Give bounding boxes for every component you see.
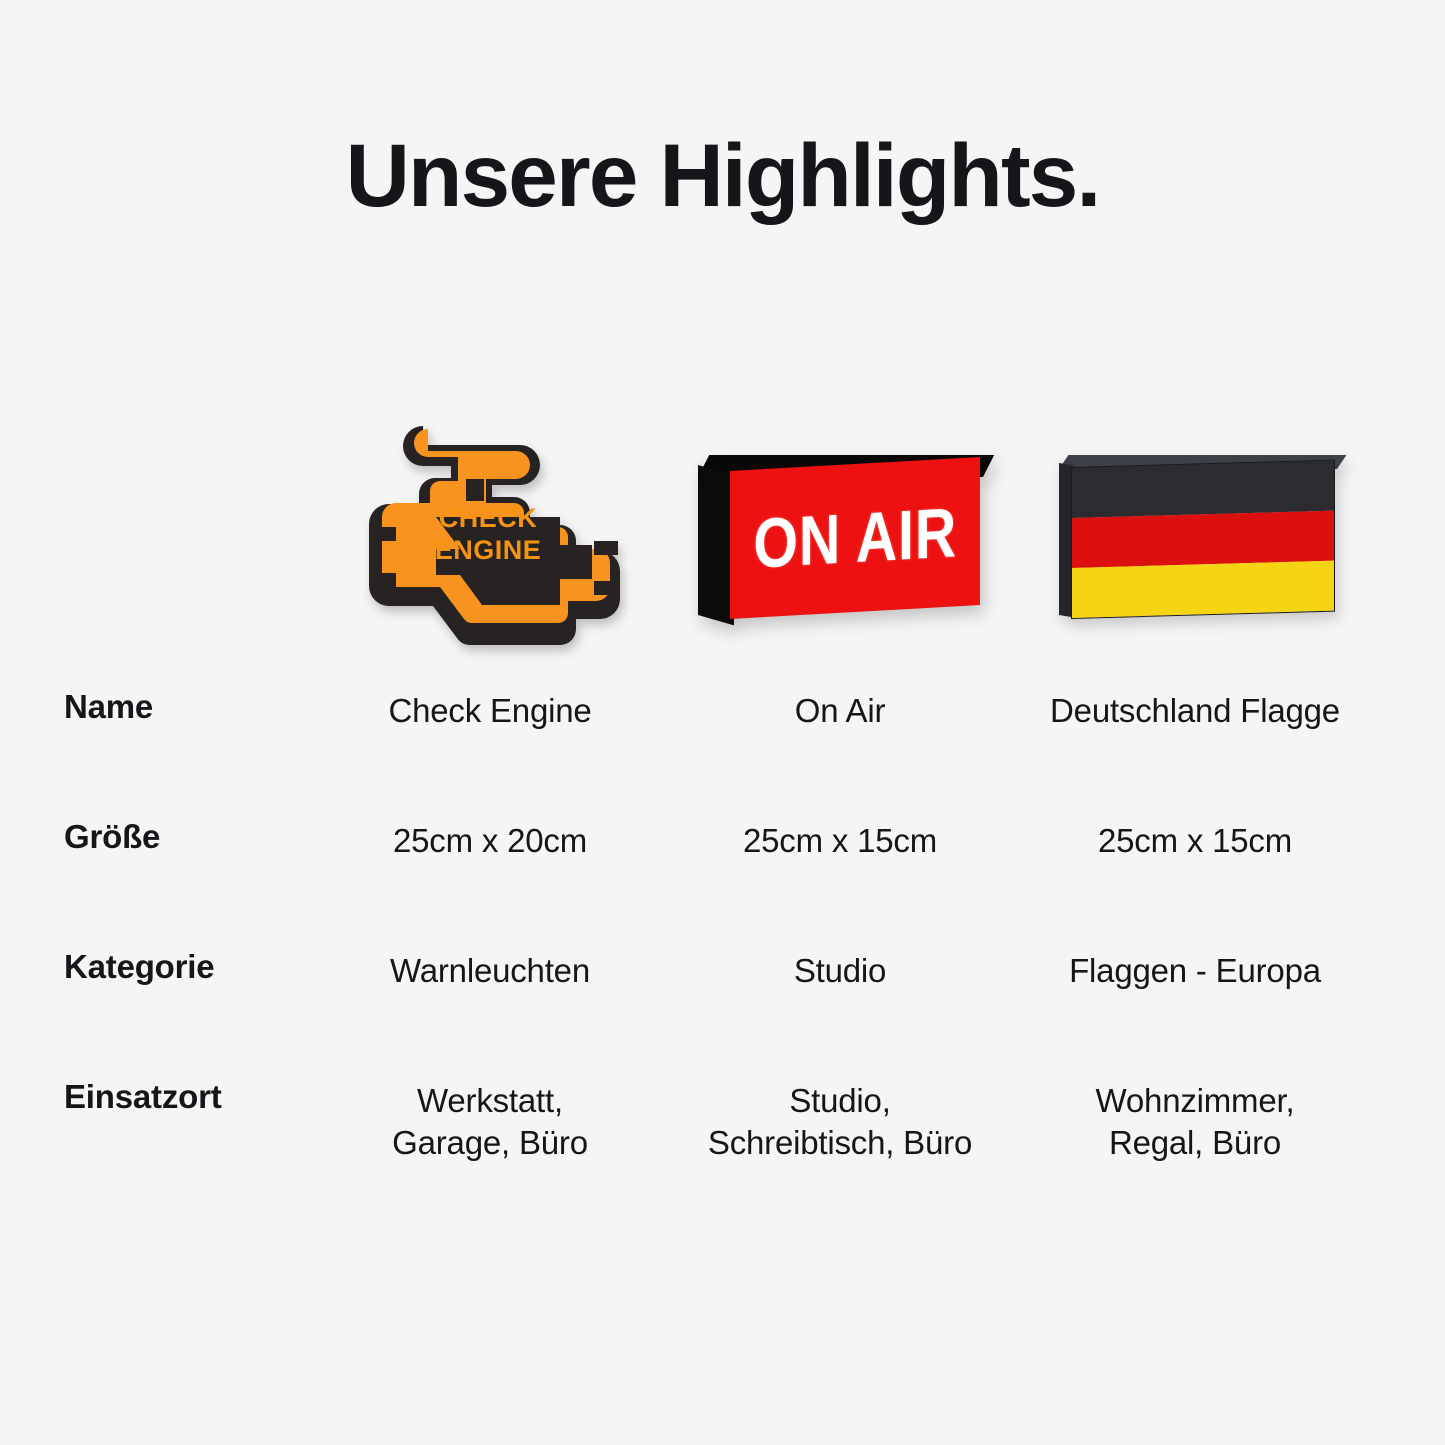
cell-kategorie-flagge: Flaggen - Europa xyxy=(1020,950,1370,992)
product-image-strip: CHECK ENGINE ON AIR xyxy=(0,400,1445,670)
table-row: Kategorie Warnleuchten Studio Flaggen - … xyxy=(0,950,1445,1080)
cell-groesse-check-engine: 25cm x 20cm xyxy=(315,820,665,862)
germany-flag-lightbox-icon xyxy=(1045,435,1345,635)
on-air-label: ON AIR xyxy=(753,497,957,578)
product-image-deutschland-flagge[interactable] xyxy=(1020,400,1370,670)
cell-name-check-engine: Check Engine xyxy=(315,690,665,732)
on-air-side-face xyxy=(698,465,734,625)
product-image-on-air[interactable]: ON AIR xyxy=(665,400,1015,670)
check-engine-lamp-icon: CHECK ENGINE xyxy=(340,423,640,648)
product-image-check-engine[interactable]: CHECK ENGINE xyxy=(315,400,665,670)
row-label-groesse: Größe xyxy=(64,820,324,853)
flag-band-red xyxy=(1072,511,1334,568)
cell-kategorie-on-air: Studio xyxy=(665,950,1015,992)
row-label-name: Name xyxy=(64,690,324,723)
table-row: Größe 25cm x 20cm 25cm x 15cm 25cm x 15c… xyxy=(0,820,1445,950)
flag-band-yellow xyxy=(1072,561,1334,618)
on-air-front-face: ON AIR xyxy=(730,457,980,619)
row-label-kategorie: Kategorie xyxy=(64,950,324,983)
cell-groesse-on-air: 25cm x 15cm xyxy=(665,820,1015,862)
cell-einsatzort-flagge: Wohnzimmer,Regal, Büro xyxy=(1020,1080,1370,1164)
cell-name-flagge: Deutschland Flagge xyxy=(1020,690,1370,732)
cell-kategorie-check-engine: Warnleuchten xyxy=(315,950,665,992)
cell-groesse-flagge: 25cm x 15cm xyxy=(1020,820,1370,862)
page-title: Unsere Highlights. xyxy=(0,131,1445,220)
table-row: Einsatzort Werkstatt,Garage, Büro Studio… xyxy=(0,1080,1445,1230)
cell-einsatzort-check-engine: Werkstatt,Garage, Büro xyxy=(315,1080,665,1164)
flag-front-face xyxy=(1071,460,1335,619)
spec-table: Name Check Engine On Air Deutschland Fla… xyxy=(0,690,1445,1230)
on-air-lightbox-icon: ON AIR xyxy=(690,435,990,635)
flag-band-black xyxy=(1072,461,1334,518)
row-label-einsatzort: Einsatzort xyxy=(64,1080,324,1113)
cell-name-on-air: On Air xyxy=(665,690,1015,732)
cell-einsatzort-on-air: Studio,Schreibtisch, Büro xyxy=(665,1080,1015,1164)
table-row: Name Check Engine On Air Deutschland Fla… xyxy=(0,690,1445,820)
